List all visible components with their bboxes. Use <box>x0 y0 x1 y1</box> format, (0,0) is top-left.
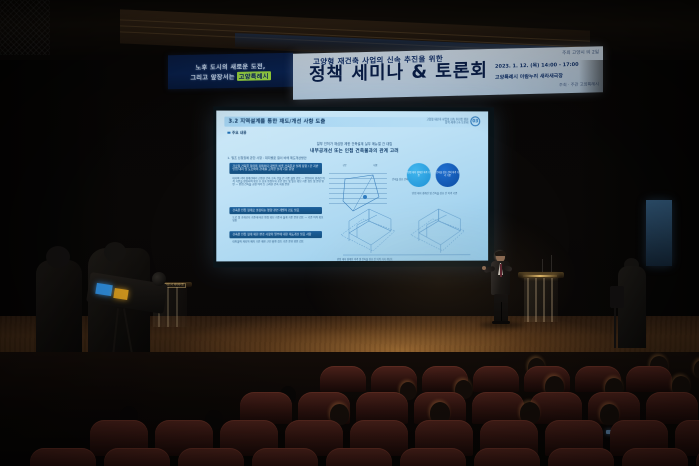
slide-circles-caption: 인접 대지 경계선 및 건축물 상호 간 이격 기준 <box>395 191 474 195</box>
seat <box>30 448 96 466</box>
slide-box-3: 건축물 인접 형태 제한 변경 사항의 일부에 대한 제도개선 필요 사항 <box>229 231 322 238</box>
banner-left-highlight: 고양특례시 <box>237 71 271 81</box>
slide-box-3-bullets: 대형물의 계획적 배치 기준 제반 근린 활용 검토 기준 운영 방안 검토 <box>232 240 325 249</box>
seat <box>104 448 170 466</box>
seat <box>178 448 244 466</box>
slide-section-label: 주요 내용 <box>227 131 246 136</box>
slide-callout-small: 일부 인허가 재심방 제한 건축설계 실무 매뉴얼 간 대립 <box>277 141 432 146</box>
speaker-left-hand <box>482 266 486 270</box>
lectern-reading-light <box>523 275 557 277</box>
slide-box-2-header: 건축물 인접 형태로 설정되는 영향 관련 개별적 검토 필요 <box>232 209 319 213</box>
slide-logo: 고양형 재건축 사업의 신속 추진을 위한 정책 세미나 & 토론회 03 <box>426 116 480 126</box>
camera-blue-led <box>95 283 113 296</box>
seat <box>626 366 672 392</box>
lectern-body <box>524 278 558 322</box>
microphone-stem-1 <box>551 255 552 273</box>
slide-box-2: 건축물 인접 형태로 설정되는 영향 관련 개별적 검토 필요 <box>229 207 322 214</box>
microphone-stem-2 <box>542 259 543 273</box>
slide-box-2-bullets: 도로 및 공개공지 기준에 따른 인접 확보 기준과 설계 기준 운영 검토 —… <box>232 216 325 227</box>
camera-operator-2-head <box>104 242 126 262</box>
seat <box>474 448 540 466</box>
slide-logo-text: 고양형 재건축 사업의 신속 추진을 위한 정책 세미나 & 토론회 <box>426 118 468 124</box>
banner-corner-note: 주최 고양시 의 2일 <box>495 49 599 58</box>
camera-amber-led <box>113 288 128 300</box>
projection-screen: 3.2 지역설계를 통한 재도/개선 사항 도출 고양형 재건축 사업의 신속 … <box>213 107 494 268</box>
seat <box>622 448 688 466</box>
speaker-leg-gap <box>501 302 502 321</box>
speaker-person <box>484 252 518 324</box>
speaker-tie <box>500 264 502 277</box>
camera-operator-1 <box>36 260 82 364</box>
seat <box>326 448 392 466</box>
speaker-shoes <box>492 321 510 324</box>
banner-main: 고양형 재건축 사업의 신속 추진을 위한 정책 세미나 & 토론회 주최 고양… <box>293 46 603 100</box>
speaker-hair <box>495 251 506 256</box>
slide-circle-2: 건축물 상호 간의 이격 거리 기준 <box>436 163 460 187</box>
slide-box-1: 가로형 건축물 형태의 정의하되 대법을 비롯 건축물과 실제 정함 / 간 지… <box>229 163 322 174</box>
ceiling-mesh-panel <box>0 0 50 60</box>
slide-logo-mark: 03 <box>470 116 480 126</box>
slide-title: 3.2 지역설계를 통한 재도/개선 사항 도출 <box>228 118 325 125</box>
slide-callout-big: 내부공개선 또는 인접 건축물과의 관계 고려 <box>277 147 432 153</box>
banner-left: 노후 도시의 새로운 도전, 그리고 앞장서는 고양특례시 <box>168 53 293 89</box>
right-camera-operator <box>612 248 652 348</box>
seat <box>320 366 366 392</box>
right-operator-equipment <box>610 286 624 308</box>
slide-box-1-bullets: 대지의 지역 경계선에서 근접한 건축 신축 건물 간 기준 설정 검토 — 인… <box>232 177 325 201</box>
seat <box>252 448 318 466</box>
slide-logo-line2: 정책 세미나 & 토론회 <box>426 121 468 124</box>
banner-left-line2: 그리고 앞장서는 고양특례시 <box>190 71 270 82</box>
slide-table-header-0: 구분 <box>342 163 346 167</box>
slide-note: 1. 일조 신청권에 관한 사항 : 대지별로 길이 비해 제도개선방안 <box>227 156 306 160</box>
slide-circle-1-text: 인접 대지 경계선 이격 기준 <box>407 172 431 178</box>
banner-main-title: 정책 세미나 & 토론회 <box>309 61 488 85</box>
slide-circle-1: 인접 대지 경계선 이격 기준 <box>407 163 431 187</box>
seat <box>473 366 519 392</box>
slide-table-header-1: 내용 <box>373 163 377 167</box>
right-operator-stand <box>614 306 616 348</box>
banner-left-line2-prefix: 그리고 앞장서는 <box>190 71 234 81</box>
slide-circle-2-text: 건축물 상호 간의 이격 거리 기준 <box>436 172 460 178</box>
slide-diagram-caption: 인접 대지 경계선 이격 및 건축물 상호 간 이격 거리 개념도 <box>337 257 393 261</box>
banner-left-line1: 노후 도시의 새로운 도전, <box>196 61 266 71</box>
auditorium-photo: 노후 도시의 새로운 도전, 그리고 앞장서는 고양특례시 고양형 재건축 사업… <box>0 0 699 466</box>
slide-isometric-diagrams <box>335 207 479 257</box>
slide-callout: 일부 인허가 재심방 제한 건축설계 실무 매뉴얼 간 대립 내부공개선 또는 … <box>277 141 432 154</box>
left-camera-rig <box>36 248 186 366</box>
lectern <box>518 272 564 324</box>
slide-table-headers: 구분 내용 <box>329 163 391 167</box>
presentation-slide: 3.2 지역설계를 통한 재도/개선 사항 도출 고양형 재건축 사업의 신속 … <box>216 111 488 262</box>
slide-box-1-header: 가로형 건축물 형태의 정의하되 대법을 비롯 건축물과 실제 정함 / 간 지… <box>232 165 319 172</box>
camera-operator-1-head <box>46 246 70 268</box>
seat <box>548 448 614 466</box>
audience-area <box>0 352 699 466</box>
slide-box-3-header: 건축물 인접 형태 제한 변경 사항의 일부에 대한 제도개선 필요 사항 <box>232 233 319 237</box>
seat <box>400 448 466 466</box>
camera-lens <box>152 272 166 286</box>
